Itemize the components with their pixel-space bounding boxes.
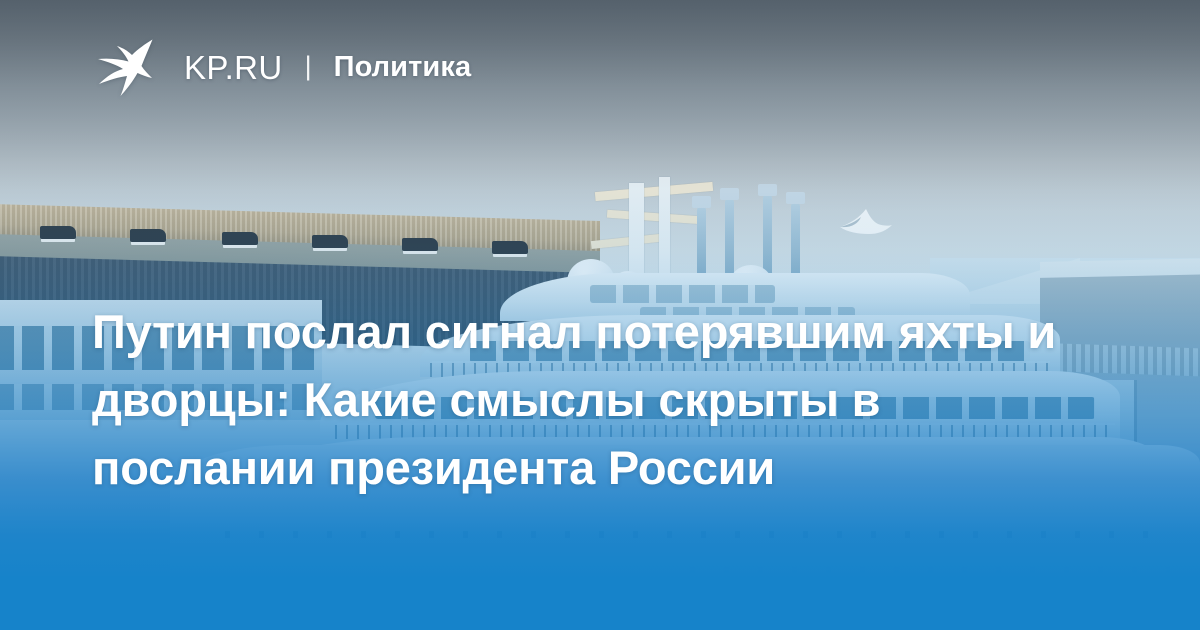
headline-title: Путин послал сигнал потерявшим яхты и дв… (92, 298, 1092, 502)
swallow-bird-icon[interactable] (92, 36, 156, 98)
rubric-label[interactable]: Политика (334, 53, 472, 82)
card-header: KP.RU | Политика (92, 36, 471, 98)
brand-label[interactable]: KP.RU (184, 51, 283, 84)
header-divider: | (305, 53, 312, 80)
social-share-card: KP.RU | Политика Путин послал сигнал пот… (0, 0, 1200, 630)
